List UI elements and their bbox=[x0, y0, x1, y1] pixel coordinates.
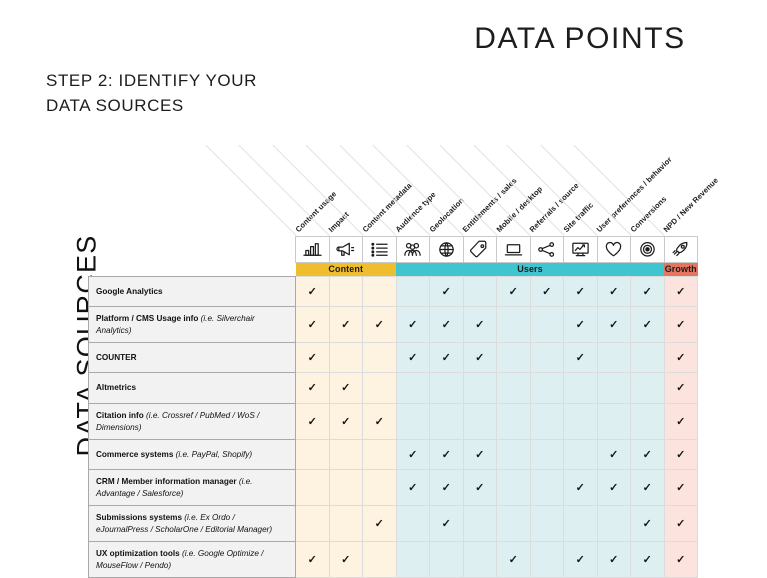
table-row: Commerce systems (i.e. PayPal, Shopify)✓… bbox=[89, 440, 698, 470]
check-cell-off[interactable] bbox=[396, 542, 430, 578]
check-icon: ✓ bbox=[676, 449, 685, 461]
check-cell-off[interactable] bbox=[597, 506, 631, 542]
check-cell-on[interactable]: ✓ bbox=[597, 440, 631, 470]
check-cell-on[interactable]: ✓ bbox=[530, 277, 564, 307]
column-header-globe: Geolocation bbox=[427, 196, 465, 234]
column-icon-cell[interactable] bbox=[463, 237, 497, 263]
check-icon: ✓ bbox=[509, 286, 518, 298]
check-cell-off[interactable] bbox=[296, 440, 330, 470]
check-cell-on[interactable]: ✓ bbox=[664, 404, 698, 440]
check-icon: ✓ bbox=[408, 352, 417, 364]
row-label: Platform / CMS Usage info (i.e. Silverch… bbox=[89, 307, 296, 343]
check-icon: ✓ bbox=[609, 482, 618, 494]
rotated-header-zone: Content usageImpactContent metadataAudie… bbox=[296, 131, 698, 237]
check-cell-off[interactable] bbox=[463, 277, 497, 307]
check-icon: ✓ bbox=[308, 352, 317, 364]
check-icon: ✓ bbox=[475, 449, 484, 461]
check-cell-on[interactable]: ✓ bbox=[631, 506, 665, 542]
check-cell-off[interactable] bbox=[329, 470, 363, 506]
check-cell-off[interactable] bbox=[463, 506, 497, 542]
check-icon: ✓ bbox=[576, 352, 585, 364]
check-cell-on[interactable]: ✓ bbox=[296, 343, 330, 373]
check-cell-on[interactable]: ✓ bbox=[363, 506, 397, 542]
row-label-name: Commerce systems bbox=[96, 450, 176, 459]
check-cell-off[interactable] bbox=[631, 343, 665, 373]
target-icon bbox=[637, 240, 658, 259]
check-icon: ✓ bbox=[643, 482, 652, 494]
check-cell-off[interactable] bbox=[430, 373, 464, 404]
check-icon: ✓ bbox=[676, 482, 685, 494]
globe-icon bbox=[436, 240, 457, 259]
step-title: STEP 2: IDENTIFY YOUR DATA SOURCES bbox=[46, 68, 306, 118]
check-cell-on[interactable]: ✓ bbox=[664, 470, 698, 506]
column-icon-cell[interactable] bbox=[530, 237, 564, 263]
row-label: Submissions systems (i.e. Ex Ordo / eJou… bbox=[89, 506, 296, 542]
row-label: COUNTER bbox=[89, 343, 296, 373]
check-cell-on[interactable]: ✓ bbox=[497, 277, 531, 307]
check-icon: ✓ bbox=[475, 482, 484, 494]
check-icon: ✓ bbox=[442, 286, 451, 298]
check-cell-off[interactable] bbox=[329, 343, 363, 373]
check-cell-on[interactable]: ✓ bbox=[631, 307, 665, 343]
check-cell-on[interactable]: ✓ bbox=[296, 277, 330, 307]
check-cell-on[interactable]: ✓ bbox=[564, 470, 598, 506]
check-cell-on[interactable]: ✓ bbox=[564, 307, 598, 343]
icon-row-spacer bbox=[89, 237, 296, 263]
matrix-body: Google Analytics✓✓✓✓✓✓✓✓Platform / CMS U… bbox=[89, 277, 698, 578]
table-row: Citation info (i.e. Crossref / PubMed / … bbox=[89, 404, 698, 440]
check-cell-off[interactable] bbox=[329, 440, 363, 470]
check-icon: ✓ bbox=[341, 319, 350, 331]
check-icon: ✓ bbox=[643, 518, 652, 530]
check-cell-off[interactable] bbox=[396, 277, 430, 307]
check-cell-on[interactable]: ✓ bbox=[597, 470, 631, 506]
monitor-chart-icon bbox=[570, 240, 591, 259]
check-cell-on[interactable]: ✓ bbox=[497, 542, 531, 578]
check-icon: ✓ bbox=[576, 554, 585, 566]
check-cell-on[interactable]: ✓ bbox=[329, 373, 363, 404]
row-label: Altmetrics bbox=[89, 373, 296, 404]
row-label-name: Google Analytics bbox=[96, 287, 163, 296]
table-row: Altmetrics✓✓✓ bbox=[89, 373, 698, 404]
category-band-content: Content bbox=[296, 263, 397, 277]
check-cell-off[interactable] bbox=[463, 542, 497, 578]
row-label-name: Citation info bbox=[96, 411, 146, 420]
check-cell-off[interactable] bbox=[497, 506, 531, 542]
data-points-title: DATA POINTS bbox=[410, 22, 750, 56]
check-cell-on[interactable]: ✓ bbox=[329, 404, 363, 440]
check-icon: ✓ bbox=[308, 554, 317, 566]
band-row-spacer bbox=[89, 263, 296, 277]
check-cell-on[interactable]: ✓ bbox=[363, 404, 397, 440]
check-cell-on[interactable]: ✓ bbox=[664, 506, 698, 542]
check-cell-on[interactable]: ✓ bbox=[664, 542, 698, 578]
check-icon: ✓ bbox=[408, 319, 417, 331]
check-icon: ✓ bbox=[308, 286, 317, 298]
column-icon-cell[interactable] bbox=[597, 237, 631, 263]
check-icon: ✓ bbox=[676, 416, 685, 428]
check-cell-on[interactable]: ✓ bbox=[664, 440, 698, 470]
check-cell-off[interactable] bbox=[631, 404, 665, 440]
check-cell-on[interactable]: ✓ bbox=[430, 343, 464, 373]
row-label: UX optimization tools (i.e. Google Optim… bbox=[89, 542, 296, 578]
table-row: COUNTER✓✓✓✓✓✓ bbox=[89, 343, 698, 373]
check-cell-off[interactable] bbox=[597, 343, 631, 373]
check-icon: ✓ bbox=[609, 319, 618, 331]
check-cell-off[interactable] bbox=[497, 440, 531, 470]
table-row: Submissions systems (i.e. Ex Ordo / eJou… bbox=[89, 506, 698, 542]
check-cell-on[interactable]: ✓ bbox=[363, 307, 397, 343]
check-icon: ✓ bbox=[643, 449, 652, 461]
check-cell-off[interactable] bbox=[396, 506, 430, 542]
check-icon: ✓ bbox=[308, 382, 317, 394]
check-icon: ✓ bbox=[676, 319, 685, 331]
table-row: CRM / Member information manager (i.e. A… bbox=[89, 470, 698, 506]
check-cell-on[interactable]: ✓ bbox=[597, 307, 631, 343]
check-icon: ✓ bbox=[341, 416, 350, 428]
column-icon-cell[interactable] bbox=[363, 237, 397, 263]
check-cell-off[interactable] bbox=[631, 373, 665, 404]
check-cell-on[interactable]: ✓ bbox=[631, 277, 665, 307]
check-icon: ✓ bbox=[676, 518, 685, 530]
column-icon-cell[interactable] bbox=[564, 237, 598, 263]
check-icon: ✓ bbox=[643, 319, 652, 331]
check-cell-on[interactable]: ✓ bbox=[463, 470, 497, 506]
check-icon: ✓ bbox=[542, 286, 551, 298]
rotated-header-spacer bbox=[89, 131, 296, 237]
check-cell-off[interactable] bbox=[497, 404, 531, 440]
check-cell-off[interactable] bbox=[396, 404, 430, 440]
check-cell-off[interactable] bbox=[530, 404, 564, 440]
check-cell-on[interactable]: ✓ bbox=[329, 307, 363, 343]
check-cell-on[interactable]: ✓ bbox=[463, 343, 497, 373]
check-cell-on[interactable]: ✓ bbox=[631, 440, 665, 470]
check-icon: ✓ bbox=[442, 352, 451, 364]
check-cell-off[interactable] bbox=[296, 470, 330, 506]
row-label: CRM / Member information manager (i.e. A… bbox=[89, 470, 296, 506]
check-icon: ✓ bbox=[643, 554, 652, 566]
check-cell-on[interactable]: ✓ bbox=[430, 277, 464, 307]
check-icon: ✓ bbox=[509, 554, 518, 566]
check-icon: ✓ bbox=[609, 449, 618, 461]
check-cell-off[interactable] bbox=[396, 373, 430, 404]
check-cell-on[interactable]: ✓ bbox=[564, 277, 598, 307]
check-cell-off[interactable] bbox=[463, 404, 497, 440]
row-label-name: Submissions systems bbox=[96, 513, 184, 522]
check-cell-off[interactable] bbox=[363, 542, 397, 578]
column-icon-cell[interactable] bbox=[631, 237, 665, 263]
check-cell-off[interactable] bbox=[530, 307, 564, 343]
table-row: Platform / CMS Usage info (i.e. Silverch… bbox=[89, 307, 698, 343]
check-cell-off[interactable] bbox=[564, 404, 598, 440]
check-cell-on[interactable]: ✓ bbox=[463, 440, 497, 470]
bar-chart-icon bbox=[302, 240, 323, 259]
check-icon: ✓ bbox=[375, 518, 384, 530]
row-label: Commerce systems (i.e. PayPal, Shopify) bbox=[89, 440, 296, 470]
column-header-megaphone: Impact bbox=[327, 210, 351, 234]
column-icon-cell[interactable] bbox=[430, 237, 464, 263]
check-cell-on[interactable]: ✓ bbox=[396, 440, 430, 470]
check-cell-on[interactable]: ✓ bbox=[430, 307, 464, 343]
check-cell-on[interactable]: ✓ bbox=[430, 506, 464, 542]
column-header-tag: Entitlements / sales bbox=[461, 176, 519, 234]
check-cell-off[interactable] bbox=[530, 343, 564, 373]
check-cell-off[interactable] bbox=[329, 506, 363, 542]
check-icon: ✓ bbox=[475, 319, 484, 331]
check-icon: ✓ bbox=[643, 286, 652, 298]
check-cell-off[interactable] bbox=[363, 277, 397, 307]
check-cell-off[interactable] bbox=[463, 373, 497, 404]
rocket-icon bbox=[670, 240, 691, 259]
column-icon-cell[interactable] bbox=[396, 237, 430, 263]
check-cell-on[interactable]: ✓ bbox=[564, 343, 598, 373]
check-cell-off[interactable] bbox=[564, 373, 598, 404]
check-cell-off[interactable] bbox=[329, 277, 363, 307]
check-cell-off[interactable] bbox=[530, 373, 564, 404]
check-icon: ✓ bbox=[341, 554, 350, 566]
check-icon: ✓ bbox=[375, 416, 384, 428]
check-cell-off[interactable] bbox=[363, 343, 397, 373]
share-icon bbox=[536, 240, 557, 259]
row-label-name: Altmetrics bbox=[96, 383, 136, 392]
check-icon: ✓ bbox=[609, 286, 618, 298]
check-cell-on[interactable]: ✓ bbox=[664, 343, 698, 373]
check-cell-on[interactable]: ✓ bbox=[430, 470, 464, 506]
check-cell-off[interactable] bbox=[530, 506, 564, 542]
check-cell-off[interactable] bbox=[597, 404, 631, 440]
poster-canvas: DATA POINTS STEP 2: IDENTIFY YOUR DATA S… bbox=[0, 0, 767, 499]
table-row: UX optimization tools (i.e. Google Optim… bbox=[89, 542, 698, 578]
check-cell-off[interactable] bbox=[430, 542, 464, 578]
check-cell-off[interactable] bbox=[296, 506, 330, 542]
row-label: Google Analytics bbox=[89, 277, 296, 307]
check-cell-on[interactable]: ✓ bbox=[664, 373, 698, 404]
check-cell-on[interactable]: ✓ bbox=[564, 542, 598, 578]
check-icon: ✓ bbox=[442, 482, 451, 494]
check-icon: ✓ bbox=[442, 518, 451, 530]
check-cell-on[interactable]: ✓ bbox=[396, 307, 430, 343]
check-cell-on[interactable]: ✓ bbox=[664, 277, 698, 307]
check-cell-off[interactable] bbox=[363, 373, 397, 404]
check-cell-off[interactable] bbox=[564, 506, 598, 542]
check-icon: ✓ bbox=[408, 482, 417, 494]
check-cell-off[interactable] bbox=[497, 373, 531, 404]
check-icon: ✓ bbox=[576, 286, 585, 298]
column-icon-cell[interactable] bbox=[497, 237, 531, 263]
row-label-detail: (i.e. PayPal, Shopify) bbox=[176, 450, 252, 459]
row-label-name: COUNTER bbox=[96, 353, 136, 362]
column-icon-cell[interactable] bbox=[664, 237, 698, 263]
check-cell-on[interactable]: ✓ bbox=[296, 542, 330, 578]
column-icon-cell[interactable] bbox=[296, 237, 330, 263]
check-icon: ✓ bbox=[676, 382, 685, 394]
check-cell-off[interactable] bbox=[564, 440, 598, 470]
check-icon: ✓ bbox=[609, 554, 618, 566]
check-icon: ✓ bbox=[408, 449, 417, 461]
list-icon bbox=[369, 240, 390, 259]
check-cell-off[interactable] bbox=[430, 404, 464, 440]
check-cell-on[interactable]: ✓ bbox=[631, 470, 665, 506]
check-cell-on[interactable]: ✓ bbox=[296, 404, 330, 440]
check-cell-on[interactable]: ✓ bbox=[329, 542, 363, 578]
check-cell-off[interactable] bbox=[530, 470, 564, 506]
row-label: Citation info (i.e. Crossref / PubMed / … bbox=[89, 404, 296, 440]
check-cell-on[interactable]: ✓ bbox=[664, 307, 698, 343]
megaphone-icon bbox=[335, 240, 356, 259]
column-icon-cell[interactable] bbox=[329, 237, 363, 263]
check-icon: ✓ bbox=[442, 319, 451, 331]
check-cell-off[interactable] bbox=[497, 343, 531, 373]
check-cell-on[interactable]: ✓ bbox=[430, 440, 464, 470]
check-icon: ✓ bbox=[576, 319, 585, 331]
check-cell-on[interactable]: ✓ bbox=[296, 373, 330, 404]
check-icon: ✓ bbox=[676, 286, 685, 298]
check-cell-on[interactable]: ✓ bbox=[631, 542, 665, 578]
check-cell-on[interactable]: ✓ bbox=[597, 277, 631, 307]
check-cell-on[interactable]: ✓ bbox=[396, 470, 430, 506]
check-cell-on[interactable]: ✓ bbox=[597, 542, 631, 578]
check-cell-off[interactable] bbox=[497, 470, 531, 506]
tag-icon bbox=[469, 240, 490, 259]
laptop-icon bbox=[503, 240, 524, 259]
row-label-name: CRM / Member information manager bbox=[96, 477, 239, 486]
category-band-users: Users bbox=[396, 263, 664, 277]
check-icon: ✓ bbox=[475, 352, 484, 364]
check-icon: ✓ bbox=[676, 352, 685, 364]
check-cell-off[interactable] bbox=[597, 373, 631, 404]
people-icon bbox=[402, 240, 423, 259]
check-icon: ✓ bbox=[442, 449, 451, 461]
icon-header-row bbox=[89, 237, 698, 263]
check-cell-off[interactable] bbox=[530, 440, 564, 470]
check-icon: ✓ bbox=[576, 482, 585, 494]
check-cell-on[interactable]: ✓ bbox=[463, 307, 497, 343]
check-cell-off[interactable] bbox=[363, 470, 397, 506]
check-icon: ✓ bbox=[308, 416, 317, 428]
check-icon: ✓ bbox=[676, 554, 685, 566]
table-row: Google Analytics✓✓✓✓✓✓✓✓ bbox=[89, 277, 698, 307]
row-label-name: UX optimization tools bbox=[96, 549, 182, 558]
row-label-name: Platform / CMS Usage info bbox=[96, 314, 201, 323]
check-icon: ✓ bbox=[375, 319, 384, 331]
check-icon: ✓ bbox=[341, 382, 350, 394]
category-band-growth: Growth bbox=[664, 263, 698, 277]
check-cell-on[interactable]: ✓ bbox=[396, 343, 430, 373]
category-band-row: ContentUsersGrowth bbox=[89, 263, 698, 277]
check-cell-off[interactable] bbox=[530, 542, 564, 578]
check-cell-on[interactable]: ✓ bbox=[296, 307, 330, 343]
check-icon: ✓ bbox=[308, 319, 317, 331]
rotated-header-row: Content usageImpactContent metadataAudie… bbox=[89, 131, 698, 237]
data-matrix: Content usageImpactContent metadataAudie… bbox=[88, 131, 698, 578]
check-cell-off[interactable] bbox=[497, 307, 531, 343]
column-header-rocket: NPD / New Revenue bbox=[662, 176, 720, 234]
check-cell-off[interactable] bbox=[363, 440, 397, 470]
heart-icon bbox=[603, 240, 624, 259]
